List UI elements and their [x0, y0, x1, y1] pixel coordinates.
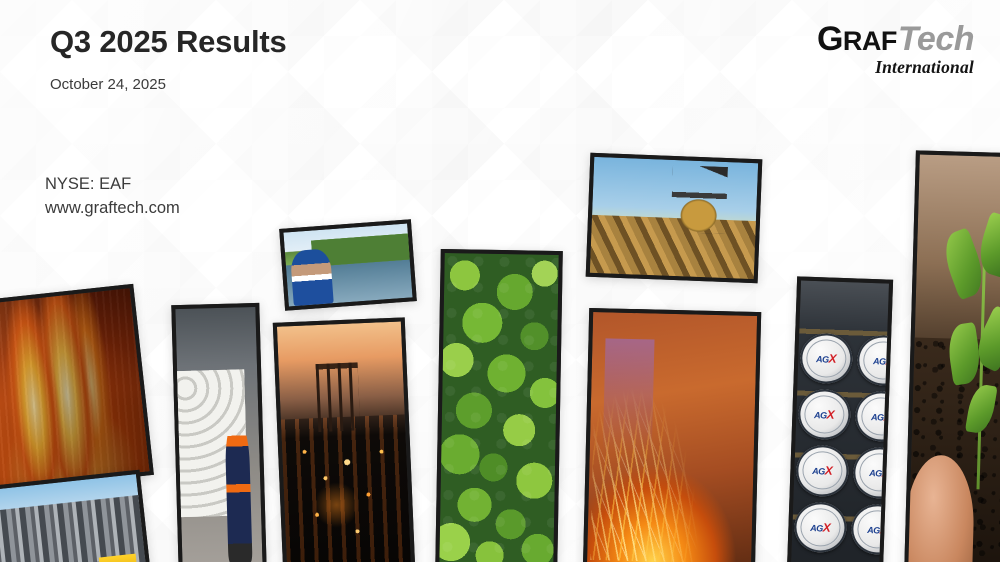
logo-tech-text: Tech — [898, 20, 974, 58]
photo-panel-molten-steel — [0, 284, 154, 492]
steel-sparks-image — [587, 312, 757, 562]
scrap-grapple-image — [590, 157, 758, 279]
seedling-sprout — [948, 214, 1000, 490]
photo-panel-refinery-at-dusk — [273, 317, 415, 562]
worker-by-lake-image — [283, 224, 412, 307]
electrode-warehouse-image — [175, 307, 262, 562]
agx-drum: AGX — [856, 334, 893, 386]
agx-drum: AGX — [854, 391, 893, 443]
company-logo: GRAFTech International — [817, 22, 974, 77]
agx-logo: AGX — [810, 521, 830, 534]
company-website: www.graftech.com — [45, 196, 180, 220]
seedling-in-hands-image — [908, 155, 1000, 562]
photo-panel-seedling-in-hands — [904, 150, 1000, 562]
presentation-date: October 24, 2025 — [50, 76, 166, 93]
investor-info-block: NYSE: EAF www.graftech.com — [45, 172, 180, 220]
photo-panel-agx-drums: AGX AGX AGX AGX AGX AGX AGX AGX — [787, 276, 893, 562]
molten-steel-image — [0, 288, 149, 488]
photo-panel-electrode-warehouse — [171, 303, 266, 562]
forest-canopy-image — [439, 253, 558, 562]
agx-drum: AGX — [797, 389, 851, 441]
industrial-plant-image — [0, 474, 147, 562]
agx-drum-grid: AGX AGX AGX AGX AGX AGX AGX AGX — [793, 332, 893, 555]
agx-drum: AGX — [799, 332, 853, 384]
stock-ticker: NYSE: EAF — [45, 172, 180, 196]
agx-logo: AGX — [814, 408, 834, 421]
photo-panel-steel-sparks — [583, 308, 761, 562]
logo-subtitle: International — [817, 59, 974, 77]
photo-panel-industrial-plant — [0, 470, 152, 562]
agx-drums-image: AGX AGX AGX AGX AGX AGX AGX AGX — [791, 281, 889, 562]
sprout-leaf — [965, 383, 998, 436]
agx-logo: AGX — [873, 354, 893, 367]
agx-drum: AGX — [795, 445, 849, 497]
photo-panel-forest-canopy — [435, 249, 563, 562]
photo-panel-scrap-grapple — [586, 153, 763, 284]
refinery-at-dusk-image — [277, 322, 411, 562]
logo-graf-text: GRAF — [817, 20, 897, 58]
presentation-slide: AGX AGX AGX AGX AGX AGX AGX AGX Q3 — [0, 0, 1000, 562]
page-title: Q3 2025 Results — [50, 24, 287, 60]
agx-drum: AGX — [793, 501, 847, 553]
agx-logo: AGX — [816, 352, 836, 365]
logo-wordmark: GRAFTech — [817, 22, 974, 56]
photo-panel-worker-by-lake — [279, 219, 417, 310]
agx-logo: AGX — [812, 464, 832, 477]
sprout-leaf — [945, 322, 983, 386]
